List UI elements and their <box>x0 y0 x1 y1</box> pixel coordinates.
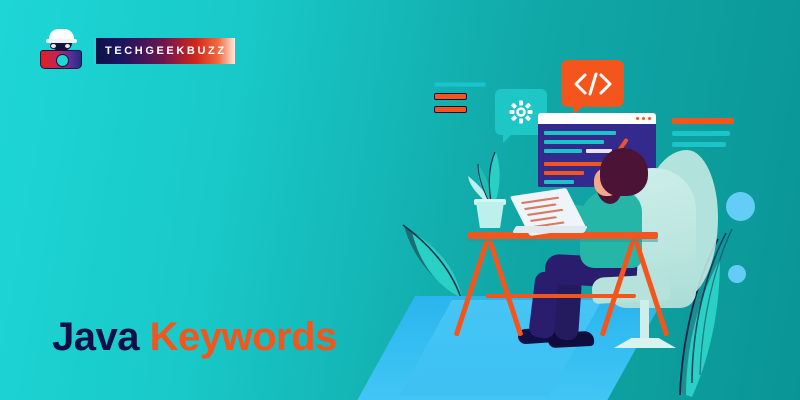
right-bar-teal-1 <box>672 131 730 136</box>
left-bar-outline <box>434 82 486 87</box>
chair-stem <box>640 300 649 344</box>
right-bar-orange <box>672 118 734 124</box>
desk-top-shadow <box>468 239 658 242</box>
person-shin-back <box>554 277 582 341</box>
chair-seat <box>591 274 670 304</box>
brand-wordmark-text: TECHGEEKBUZZ <box>105 45 227 57</box>
circle-large-decoration <box>726 192 755 221</box>
mascot-eye-left <box>50 43 57 49</box>
mascot-hat <box>49 29 74 41</box>
person-hair <box>600 148 648 196</box>
code-line-2 <box>544 140 604 144</box>
desk-top <box>468 232 658 239</box>
window-dot-3 <box>648 117 651 120</box>
mascot-eye-right <box>64 43 71 49</box>
banner-root: TECHGEEKBUZZ Java Keywords <box>0 0 800 400</box>
mascot-laptop-body <box>40 50 82 69</box>
brand-logo[interactable]: TECHGEEKBUZZ <box>38 28 235 74</box>
gear-icon <box>508 99 534 125</box>
laptop-base <box>512 226 588 233</box>
brand-wordmark: TECHGEEKBUZZ <box>93 38 235 64</box>
right-bar-teal-2 <box>672 142 726 147</box>
code-line-6 <box>544 171 584 175</box>
code-line-1 <box>544 131 616 135</box>
page-title: Java Keywords <box>52 315 337 360</box>
code-line-7 <box>544 180 574 184</box>
code-window-titlebar <box>538 113 656 124</box>
code-line-3 <box>544 149 582 153</box>
plant-pot <box>476 202 504 228</box>
page-title-word-two: Keywords <box>150 315 337 359</box>
leaf-left-icon <box>398 222 468 302</box>
techgeekbuzz-laptop-mascot-icon <box>38 28 84 74</box>
left-bar-orange-2 <box>434 106 467 113</box>
laptop-text-line <box>527 209 564 216</box>
page-title-word-one: Java <box>52 315 139 359</box>
code-speech-bubble <box>561 60 624 107</box>
laptop-text-line <box>530 216 557 222</box>
circle-small-decoration <box>728 265 746 283</box>
window-dot-1 <box>636 117 639 120</box>
left-bar-orange-1 <box>434 93 467 100</box>
potted-plant <box>466 150 516 213</box>
desk-brace <box>486 294 636 298</box>
window-dot-2 <box>642 117 645 120</box>
code-brackets-icon <box>573 72 613 96</box>
laptop-text-line <box>524 203 557 210</box>
